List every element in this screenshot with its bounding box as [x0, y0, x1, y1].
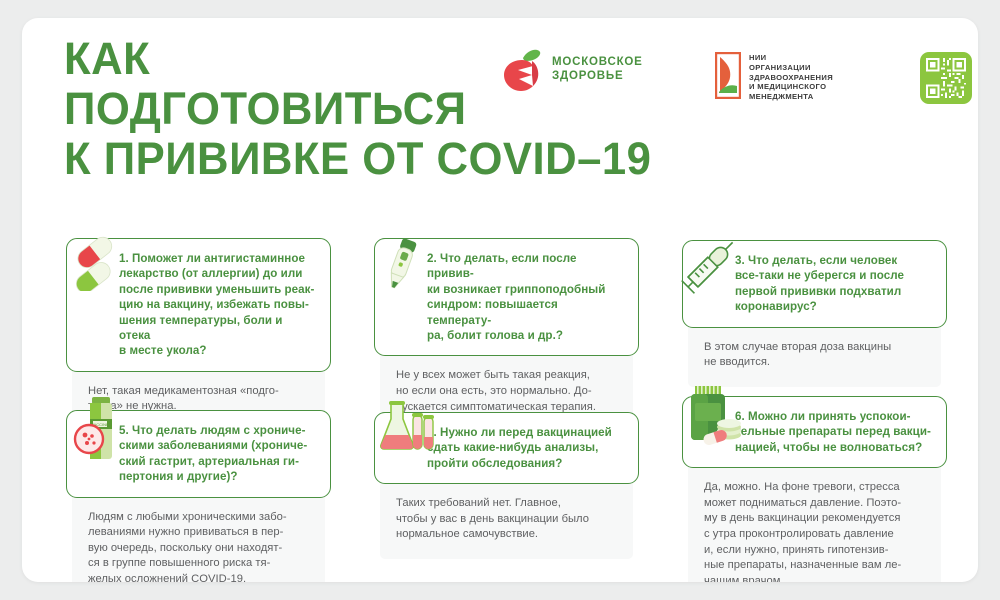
- poster-header: КАК ПОДГОТОВИТЬСЯ К ПРИВИВКЕ ОТ COVID–19…: [22, 18, 978, 208]
- question-text: 1. Поможет ли антигистаминное лекарство …: [119, 251, 316, 359]
- faq-card-1: 1. Поможет ли антигистаминное лекарство …: [66, 238, 331, 431]
- question-box: 6. Можно ли принять успокои- тельные пре…: [682, 396, 947, 468]
- question-text: 5. Что делать людям с хрониче- скими заб…: [119, 423, 316, 485]
- pills-icon: [65, 231, 127, 291]
- answer-text: Людям с любыми хроническими забо- левани…: [88, 510, 309, 582]
- faq-card-5: VACCINE 5. Что делать людям с хрониче- с…: [66, 410, 331, 582]
- question-box: 2. Что делать, если после привив- ки воз…: [374, 238, 639, 356]
- svg-text:VACCINE: VACCINE: [91, 422, 109, 427]
- question-box: VACCINE 5. Что делать людям с хрониче- с…: [66, 410, 331, 498]
- answer-text: Да, можно. На фоне тревоги, стресса може…: [704, 480, 925, 582]
- question-text: 6. Можно ли принять успокои- тельные пре…: [735, 409, 932, 455]
- moscow-health-mark: [502, 48, 544, 92]
- question-text: 2. Что делать, если после привив- ки воз…: [427, 251, 624, 343]
- no-virus-badge: [75, 425, 103, 453]
- capsule: [702, 429, 728, 447]
- moscow-health-logo-text: МОСКОВСКОЕ ЗДОРОВЬЕ: [552, 55, 643, 83]
- nii-logo-text: НИИ ОРГАНИЗАЦИИ ЗДРАВООХРАНЕНИЯ И МЕДИЦИ…: [749, 53, 833, 102]
- answer-box: В этом случае вторая доза вакцины не вво…: [688, 320, 941, 387]
- answer-text: Таких требований нет. Главное, чтобы у в…: [396, 496, 617, 543]
- answer-box: Таких требований нет. Главное, чтобы у в…: [380, 476, 633, 559]
- faq-card-3: 3. Что делать, если человек все-таки не …: [682, 240, 947, 387]
- answer-text: Не у всех может быть такая реакция, но е…: [396, 368, 617, 415]
- answer-text: В этом случае вторая доза вакцины не вво…: [704, 340, 925, 371]
- question-text: 3. Что делать, если человек все-таки не …: [735, 253, 932, 315]
- answer-box: Да, можно. На фоне тревоги, стресса може…: [688, 460, 941, 582]
- qr-code-pattern: [926, 58, 966, 98]
- answer-box: Людям с любыми хроническими забо- левани…: [72, 490, 325, 582]
- syringe-icon: [681, 231, 739, 299]
- moscow-health-logo: МОСКОВСКОЕ ЗДОРОВЬЕ: [502, 46, 672, 94]
- faq-card-4: 4. Нужно ли перед вакцинацией сдать каки…: [374, 412, 639, 559]
- question-box: 1. Поможет ли антигистаминное лекарство …: [66, 238, 331, 372]
- nii-logo-mark: [715, 52, 741, 99]
- poster-canvas: КАК ПОДГОТОВИТЬСЯ К ПРИВИВКЕ ОТ COVID–19…: [22, 18, 978, 582]
- question-box: 3. Что делать, если человек все-таки не …: [682, 240, 947, 328]
- nii-logo: НИИ ОРГАНИЗАЦИИ ЗДРАВООХРАНЕНИЯ И МЕДИЦИ…: [715, 52, 865, 104]
- question-box: 4. Нужно ли перед вакцинацией сдать каки…: [374, 412, 639, 484]
- thermometer-icon: [377, 233, 427, 295]
- faq-card-6: 6. Можно ли принять успокои- тельные пре…: [682, 396, 947, 582]
- faq-card-2: 2. Что делать, если после привив- ки воз…: [374, 238, 639, 431]
- qr-code[interactable]: [920, 52, 972, 104]
- question-text: 4. Нужно ли перед вакцинацией сдать каки…: [427, 425, 624, 471]
